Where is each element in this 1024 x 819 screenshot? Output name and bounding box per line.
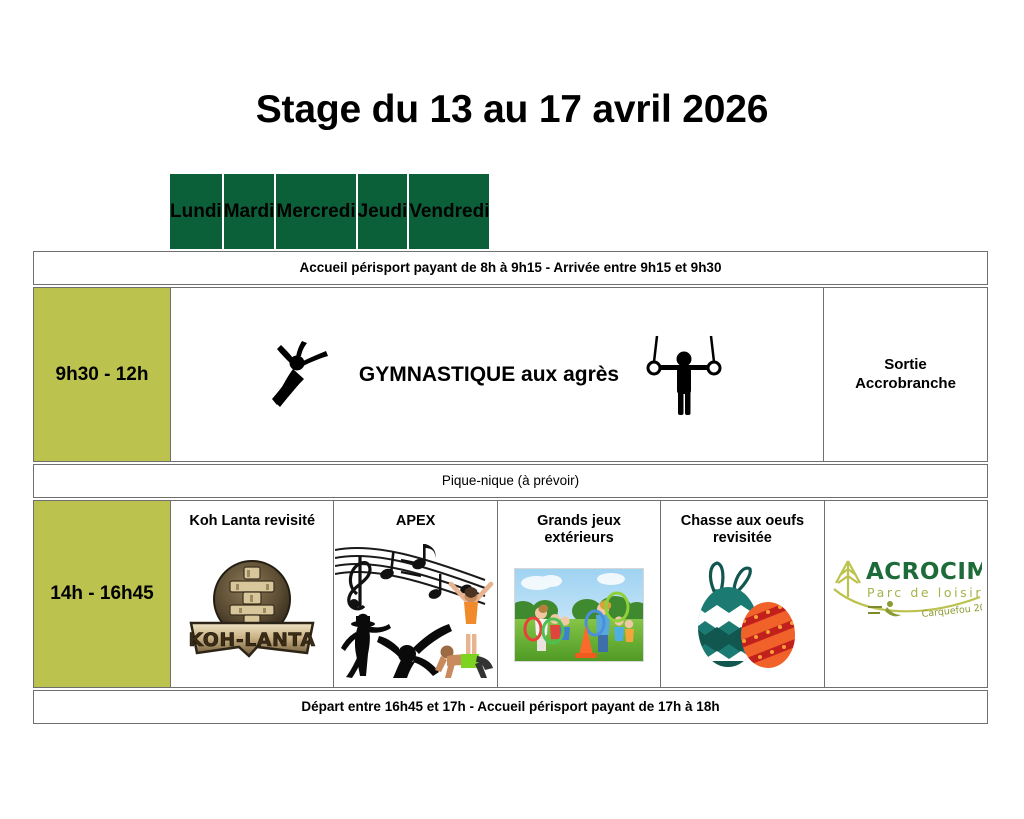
outdoor-games-photo: [498, 547, 660, 687]
cell-morning-gymnastique: GYMNASTIQUE aux agrès: [171, 288, 824, 461]
schedule-table: Lundi Mardi Mercredi Jeudi Vendredi Accu…: [33, 174, 988, 726]
day-header-label: Vendredi: [409, 201, 489, 223]
cell-afternoon-jeudi-line2: revisitée: [681, 530, 804, 547]
page-title: Stage du 13 au 17 avril 2026: [0, 88, 1024, 132]
acrocime-logo: ACROCIME Parc de loisirs Carquefou 2004: [825, 501, 987, 687]
day-header-label: Mercredi: [276, 201, 355, 223]
cell-afternoon-lundi: Koh Lanta revisité: [171, 501, 334, 687]
day-header-mercredi: Mercredi: [276, 174, 357, 249]
banner-arrival: Accueil périsport payant de 8h à 9h15 - …: [33, 251, 988, 285]
cell-afternoon-jeudi-title: Chasse aux oeufs revisitée: [677, 501, 808, 547]
cell-afternoon-jeudi-line1: Chasse aux oeufs: [681, 513, 804, 530]
cell-afternoon-mercredi-line1: Grands jeux: [537, 513, 621, 530]
day-header-jeudi: Jeudi: [358, 174, 410, 249]
acrocime-name: ACROCIME: [866, 559, 982, 585]
day-header-label: Jeudi: [358, 201, 408, 223]
day-header-mardi: Mardi: [224, 174, 277, 249]
day-header-vendredi: Vendredi: [409, 174, 489, 249]
banner-arrival-text: Accueil périsport payant de 8h à 9h15 - …: [34, 261, 987, 275]
easter-eggs-illustration: [661, 547, 823, 687]
day-header-lundi: Lundi: [170, 174, 224, 249]
banner-lunch-text: Pique-nique (à prévoir): [34, 474, 987, 488]
acrocime-tagline: Parc de loisirs: [867, 585, 982, 600]
apex-dance-illustration: [334, 530, 496, 687]
time-label-morning-text: 9h30 - 12h: [56, 364, 149, 386]
time-label-morning: 9h30 - 12h: [34, 288, 171, 461]
banner-departure-text: Départ entre 16h45 et 17h - Accueil péri…: [34, 700, 987, 714]
cell-morning-vendredi: Sortie Accrobranche: [824, 288, 987, 461]
table-header-row: Lundi Mardi Mercredi Jeudi Vendredi: [170, 174, 988, 249]
banner-lunch: Pique-nique (à prévoir): [33, 464, 988, 498]
cell-morning-vendredi-line2: Accrobranche: [855, 375, 956, 394]
cell-morning-vendredi-line1: Sortie: [855, 356, 956, 375]
cell-afternoon-lundi-title: Koh Lanta revisité: [185, 501, 319, 530]
time-label-afternoon-text: 14h - 16h45: [50, 583, 154, 605]
cell-afternoon-jeudi: Chasse aux oeufs revisitée: [661, 501, 824, 687]
day-header-label: Lundi: [170, 201, 222, 223]
day-header-label: Mardi: [224, 201, 275, 223]
row-morning: 9h30 - 12h: [33, 287, 988, 462]
dancer-silhouette: [341, 613, 391, 677]
cell-afternoon-mercredi: Grands jeux extérieurs: [498, 501, 661, 687]
gymnast-rings-icon: [645, 334, 723, 416]
gymnastique-label: GYMNASTIQUE aux agrès: [359, 363, 619, 387]
cell-afternoon-mardi: APEX: [334, 501, 497, 687]
cell-afternoon-mercredi-title: Grands jeux extérieurs: [533, 501, 625, 547]
acrocime-location: Carquefou 2004: [921, 601, 982, 620]
cell-afternoon-mercredi-line2: extérieurs: [537, 530, 621, 547]
acro-base-figure: [435, 645, 493, 678]
time-label-afternoon: 14h - 16h45: [34, 501, 171, 687]
gymnast-leap-icon: [271, 339, 333, 411]
koh-lanta-logo: KOH-LANTA: [171, 530, 333, 687]
row-afternoon: 14h - 16h45 Koh Lanta revisité: [33, 500, 988, 688]
koh-lanta-logo-text: KOH-LANTA: [189, 629, 316, 651]
cell-afternoon-mardi-title: APEX: [392, 501, 440, 530]
banner-departure: Départ entre 16h45 et 17h - Accueil péri…: [33, 690, 988, 724]
cell-afternoon-vendredi: ACROCIME Parc de loisirs Carquefou 2004: [825, 501, 987, 687]
